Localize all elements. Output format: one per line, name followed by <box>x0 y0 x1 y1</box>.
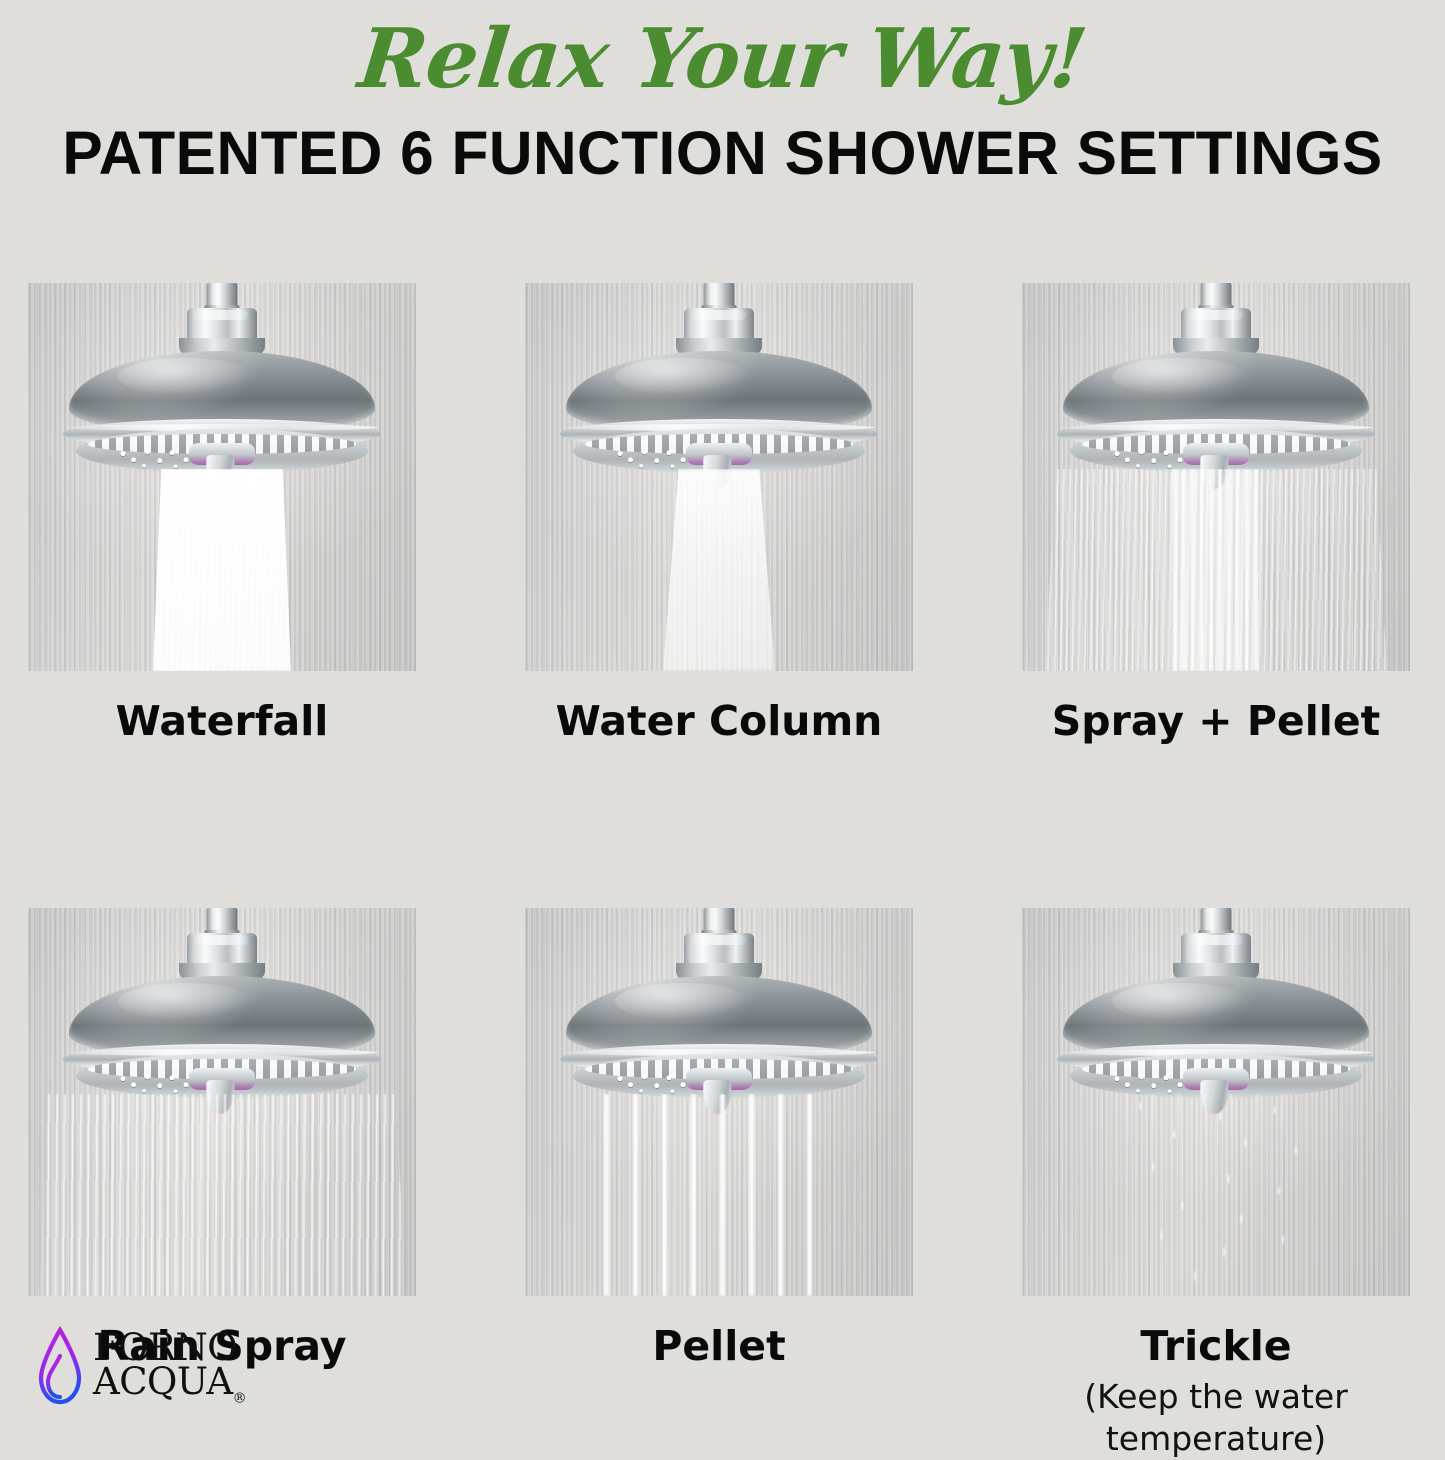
setting-image-water-column <box>525 283 913 671</box>
supply-pipe <box>207 283 238 310</box>
brand-logo: FORNO ACQUA® <box>34 1326 246 1410</box>
setting-card-pellet[interactable]: Pellet <box>525 908 913 1460</box>
supply-pipe <box>207 908 238 935</box>
script-headline: Relax Your Way! <box>0 16 1445 102</box>
brand-wordmark: FORNO ACQUA® <box>93 1331 246 1406</box>
supply-pipe <box>1201 283 1232 310</box>
registered-mark: ® <box>233 1390 247 1406</box>
water-flow-rain-spray <box>28 1094 416 1296</box>
swivel-collar <box>1181 933 1251 967</box>
showerhead-icon <box>1051 283 1381 483</box>
water-droplets <box>1111 1094 1321 1296</box>
swivel-collar <box>684 308 754 342</box>
water-droplet-icon <box>34 1326 86 1410</box>
setting-label: Trickle <box>1022 1322 1410 1370</box>
water-flow-waterfall <box>28 469 416 671</box>
water-stream <box>153 469 291 671</box>
water-flow-spray-pellet <box>1022 469 1410 671</box>
showerhead-icon <box>1051 908 1381 1108</box>
swivel-collar <box>684 933 754 967</box>
setting-card-spray-pellet[interactable]: Spray + Pellet <box>1022 283 1410 745</box>
showerhead-icon <box>57 283 387 483</box>
setting-image-rain-spray <box>28 908 416 1296</box>
setting-label: Water Column <box>525 697 913 745</box>
supply-pipe <box>1201 908 1232 935</box>
water-flow-trickle <box>1022 1094 1410 1296</box>
supply-pipe <box>704 283 735 310</box>
showerhead-icon <box>554 283 884 483</box>
setting-image-waterfall <box>28 283 416 671</box>
swivel-collar <box>187 933 257 967</box>
showerhead-icon <box>57 908 387 1108</box>
brand-name-line2: ACQUA <box>93 1360 233 1403</box>
water-stream <box>604 1094 834 1296</box>
water-stream <box>40 1094 405 1296</box>
setting-label: Spray + Pellet <box>1022 697 1410 745</box>
setting-sublabel: (Keep the water temperature) <box>1022 1376 1410 1460</box>
swivel-collar <box>187 308 257 342</box>
water-stream-core <box>1173 469 1259 671</box>
shower-settings-grid: Waterfall Water Column <box>28 283 1417 1460</box>
setting-card-waterfall[interactable]: Waterfall <box>28 283 416 745</box>
swivel-collar <box>1181 308 1251 342</box>
water-stream <box>663 469 775 671</box>
setting-label: Pellet <box>525 1322 913 1370</box>
supply-pipe <box>704 908 735 935</box>
setting-card-trickle[interactable]: Trickle (Keep the water temperature) <box>1022 908 1410 1460</box>
setting-image-trickle <box>1022 908 1410 1296</box>
setting-image-spray-pellet <box>1022 283 1410 671</box>
setting-card-water-column[interactable]: Water Column <box>525 283 913 745</box>
page-title: PATENTED 6 FUNCTION SHOWER SETTINGS <box>7 118 1438 188</box>
water-flow-water-column <box>525 469 913 671</box>
brand-name-line2-wrap: ACQUA® <box>93 1365 246 1405</box>
showerhead-icon <box>554 908 884 1108</box>
setting-image-pellet <box>525 908 913 1296</box>
water-flow-pellet <box>525 1094 913 1296</box>
setting-label: Waterfall <box>28 697 416 745</box>
